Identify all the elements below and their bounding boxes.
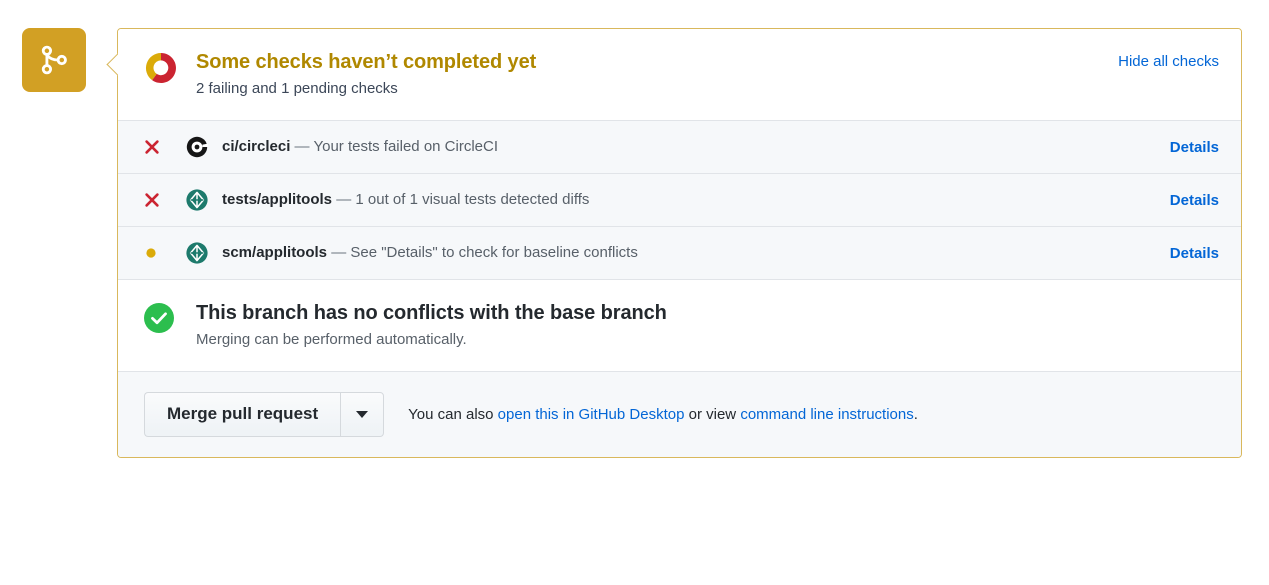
applitools-logo-icon (186, 189, 208, 211)
check-description: ci/circleci — Your tests failed on Circl… (208, 136, 1154, 158)
merge-pull-request-button[interactable]: Merge pull request (144, 392, 340, 437)
open-in-github-desktop-link[interactable]: open this in GitHub Desktop (498, 406, 685, 423)
merge-options-dropdown-button[interactable] (340, 392, 384, 437)
git-branch-icon (37, 43, 71, 77)
merge-action-footer: Merge pull request You can also open thi… (118, 371, 1241, 457)
check-context-name: scm/applitools (222, 244, 327, 261)
applitools-logo-icon (186, 242, 208, 264)
checks-status-header: Some checks haven’t completed yet 2 fail… (118, 29, 1241, 120)
checks-status-text: Some checks haven’t completed yet 2 fail… (178, 49, 1118, 100)
yellow-dot-icon (144, 243, 170, 263)
hint-prefix-text: You can also (408, 406, 498, 423)
check-summary-text: See "Details" to check for baseline conf… (350, 244, 637, 261)
hint-suffix-text: . (914, 406, 918, 423)
pending-donut-icon (144, 51, 178, 85)
check-details-link[interactable]: Details (1170, 192, 1219, 209)
check-context-name: tests/applitools (222, 191, 332, 208)
merge-conflict-text: This branch has no conflicts with the ba… (176, 300, 1219, 351)
pull-request-merge-panel: Some checks haven’t completed yet 2 fail… (0, 0, 1269, 585)
red-x-icon (144, 190, 170, 210)
red-x-icon (144, 137, 170, 157)
check-details-link[interactable]: Details (1170, 245, 1219, 262)
table-row: scm/applitools — See "Details" to check … (118, 226, 1241, 279)
chevron-down-icon (356, 411, 368, 418)
check-description: tests/applitools — 1 out of 1 visual tes… (208, 189, 1154, 211)
conflict-status-title: This branch has no conflicts with the ba… (196, 300, 1219, 326)
page-title: Some checks haven’t completed yet (196, 49, 1118, 75)
card-arrow-notch (106, 52, 118, 76)
green-check-icon (142, 301, 176, 335)
check-separator: — (327, 244, 350, 261)
check-separator: — (290, 138, 313, 155)
merge-status-card: Some checks haven’t completed yet 2 fail… (117, 28, 1242, 458)
circleci-logo-icon (186, 136, 208, 158)
command-line-instructions-link[interactable]: command line instructions (740, 406, 913, 423)
hint-middle-text: or view (684, 406, 740, 423)
table-row: tests/applitools — 1 out of 1 visual tes… (118, 173, 1241, 226)
branch-badge (22, 28, 86, 92)
check-summary-text: Your tests failed on CircleCI (313, 138, 498, 155)
merge-alternatives-hint: You can also open this in GitHub Desktop… (384, 404, 1219, 426)
check-description: scm/applitools — See "Details" to check … (208, 242, 1154, 264)
merge-button-group: Merge pull request (144, 392, 384, 437)
check-separator: — (332, 191, 355, 208)
conflict-status-subtitle: Merging can be performed automatically. (196, 329, 1219, 351)
check-context-name: ci/circleci (222, 138, 290, 155)
table-row: ci/circleci — Your tests failed on Circl… (118, 120, 1241, 173)
hide-all-checks-link[interactable]: Hide all checks (1118, 53, 1219, 70)
merge-conflict-status: This branch has no conflicts with the ba… (118, 279, 1241, 371)
checks-summary: 2 failing and 1 pending checks (196, 78, 1118, 100)
check-details-link[interactable]: Details (1170, 139, 1219, 156)
check-summary-text: 1 out of 1 visual tests detected diffs (355, 191, 589, 208)
